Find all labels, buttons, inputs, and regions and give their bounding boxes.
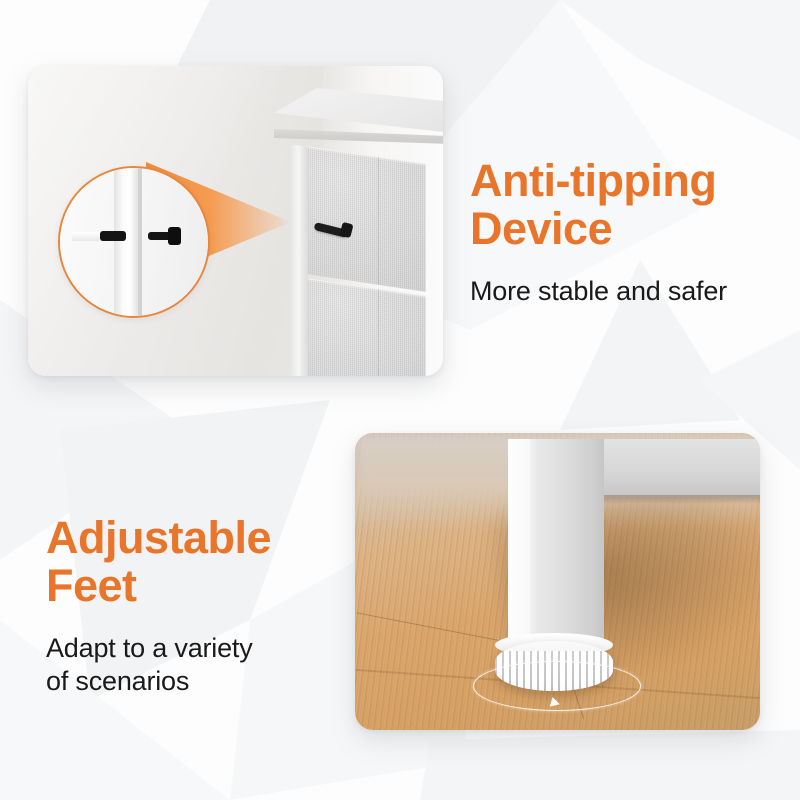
- magnified-cabinet-post: [114, 168, 140, 316]
- magnifier-circle-callout: [58, 166, 210, 318]
- adjustable-feet-subhead: Adapt to a variety of scenarios: [46, 632, 346, 698]
- furniture-rail: [604, 439, 760, 497]
- adjustable-feet-headline: Adjustable Feet: [46, 514, 346, 609]
- adjustable-feet-photo: [355, 433, 760, 730]
- fabric-seam: [378, 289, 379, 376]
- feature-graphic: Anti-tipping Device More stable and safe…: [0, 0, 800, 800]
- anti-tipping-copy-block: Anti-tipping Device More stable and safe…: [470, 140, 800, 325]
- anti-tipping-headline: Anti-tipping Device: [470, 157, 800, 252]
- cabinet-side-post: [423, 164, 443, 376]
- fabric-drawer-lower: [306, 278, 426, 376]
- anti-tipping-subhead: More stable and safer: [470, 275, 800, 308]
- magnified-screw-left-icon: [100, 231, 126, 241]
- fabric-drawer-upper: [306, 146, 426, 292]
- adjustable-feet-copy-block: Adjustable Feet Adapt to a variety of sc…: [46, 497, 346, 715]
- magnified-screw-right-head-icon: [168, 227, 181, 245]
- furniture-leg-front-face: [508, 439, 530, 651]
- fabric-seam: [378, 157, 379, 285]
- anti-tipping-photo: [28, 66, 443, 376]
- cabinet-front-post: [290, 144, 308, 376]
- magnified-post-edge: [138, 168, 142, 316]
- rail-shadow: [604, 495, 760, 504]
